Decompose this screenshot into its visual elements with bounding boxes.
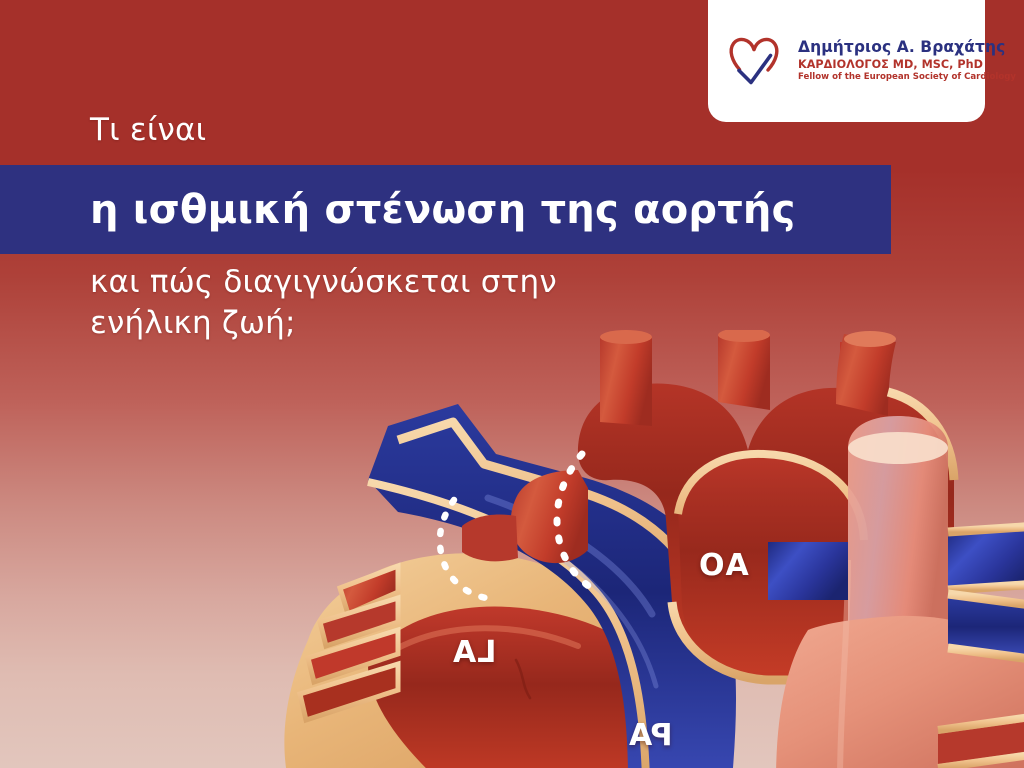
- brand-logo-card: Δημήτριος Α. Βραχάτης ΚΑΡΔΙΟΛΟΓΟΣ MD, MS…: [708, 0, 985, 122]
- headline-kicker: Τι είναι: [90, 112, 206, 148]
- logo-text-block: Δημήτριος Α. Βραχάτης ΚΑΡΔΙΟΛΟΓΟΣ MD, MS…: [798, 39, 1016, 83]
- headline-highlight-text: η ισθμική στένωση της αορτής: [90, 187, 796, 233]
- infographic-canvas: Δημήτριος Α. Βραχάτης ΚΑΡΔΙΟΛΟΓΟΣ MD, MS…: [0, 0, 1024, 768]
- doctor-specialty: ΚΑΡΔΙΟΛΟΓΟΣ MD, MSC, PhD: [798, 59, 1016, 72]
- heart-anatomy-illustration: [248, 330, 1024, 768]
- heart-outline-icon: [726, 32, 782, 90]
- doctor-name: Δημήτριος Α. Βραχάτης: [798, 39, 1016, 56]
- headline-highlight-band: η ισθμική στένωση της αορτής: [0, 165, 891, 254]
- doctor-fellowship: Fellow of the European Society of Cardio…: [798, 73, 1016, 83]
- headline-subline-line1: και πώς διαγιγνώσκεται στην: [90, 262, 710, 303]
